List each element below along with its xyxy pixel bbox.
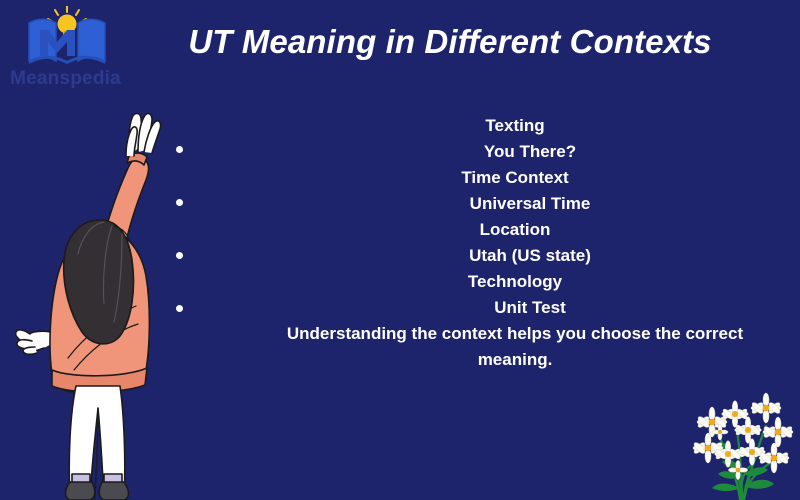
list-item: Technology — [265, 269, 765, 295]
list-item: Unit Test — [265, 295, 765, 321]
book-lightbulb-icon — [26, 6, 108, 68]
page-title: UT Meaning in Different Contexts — [140, 23, 760, 61]
list-item: Texting — [265, 113, 765, 139]
list-item: Utah (US state) — [265, 243, 765, 269]
logo[interactable]: Meanspedia — [8, 4, 123, 100]
woman-waving-illustration — [8, 108, 188, 500]
logo-wordmark: Meanspedia — [8, 68, 123, 90]
outro-text: Understanding the context helps you choo… — [285, 321, 745, 373]
list-item: You There? — [265, 139, 765, 165]
daisy-bouquet-illustration — [680, 378, 800, 500]
list-item: Time Context — [265, 165, 765, 191]
list-item: Location — [265, 217, 765, 243]
list-item: Universal Time — [265, 191, 765, 217]
poster-canvas: Meanspedia UT Meaning in Different Conte… — [0, 0, 800, 500]
content-list: Texting You There? Time Context Universa… — [265, 113, 765, 373]
